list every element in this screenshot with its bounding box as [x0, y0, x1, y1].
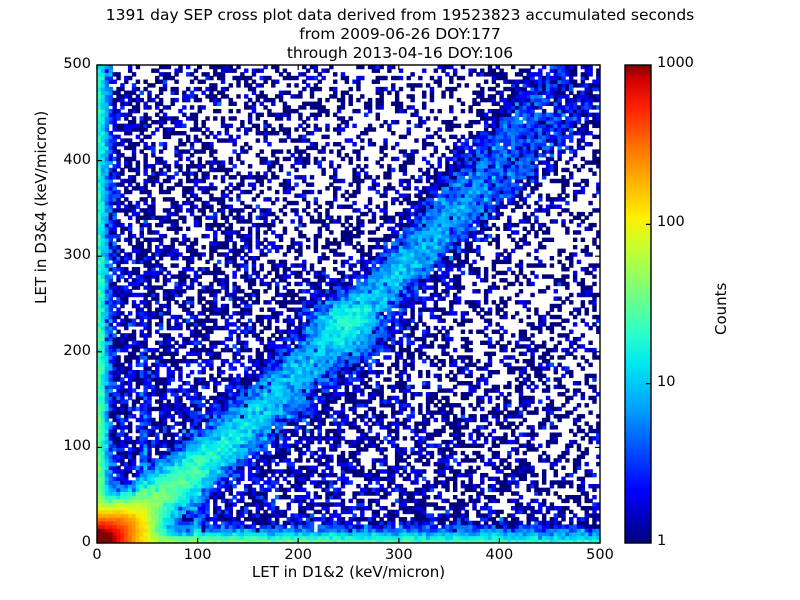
x-tick-label-500: 500 [560, 547, 640, 563]
colorbar-tick-label-100: 100 [657, 214, 685, 230]
colorbar-tick-label-1: 1 [657, 533, 666, 549]
colorbar-gradient [625, 65, 651, 543]
y-tick-label-500: 500 [5, 56, 91, 72]
y-tick-label-400: 400 [5, 152, 91, 168]
plot-svg [0, 0, 800, 600]
colorbar-tick-label-10: 10 [657, 374, 675, 390]
y-axis-label: LET in D3&4 (keV/micron) [32, 111, 50, 304]
y-tick-label-0: 0 [5, 534, 91, 550]
x-tick-label-300: 300 [359, 547, 439, 563]
y-tick-label-300: 300 [5, 247, 91, 263]
y-tick-label-100: 100 [5, 438, 91, 454]
y-tick-label-200: 200 [5, 343, 91, 359]
x-tick-label-200: 200 [258, 547, 338, 563]
colorbar-label: Counts [712, 283, 730, 335]
x-tick-label-100: 100 [158, 547, 238, 563]
x-tick-label-400: 400 [459, 547, 539, 563]
figure-canvas: 1391 day SEP cross plot data derived fro… [0, 0, 800, 600]
colorbar-tick-label-1000: 1000 [657, 55, 694, 71]
x-axis-label: LET in D1&2 (keV/micron) [0, 563, 697, 581]
